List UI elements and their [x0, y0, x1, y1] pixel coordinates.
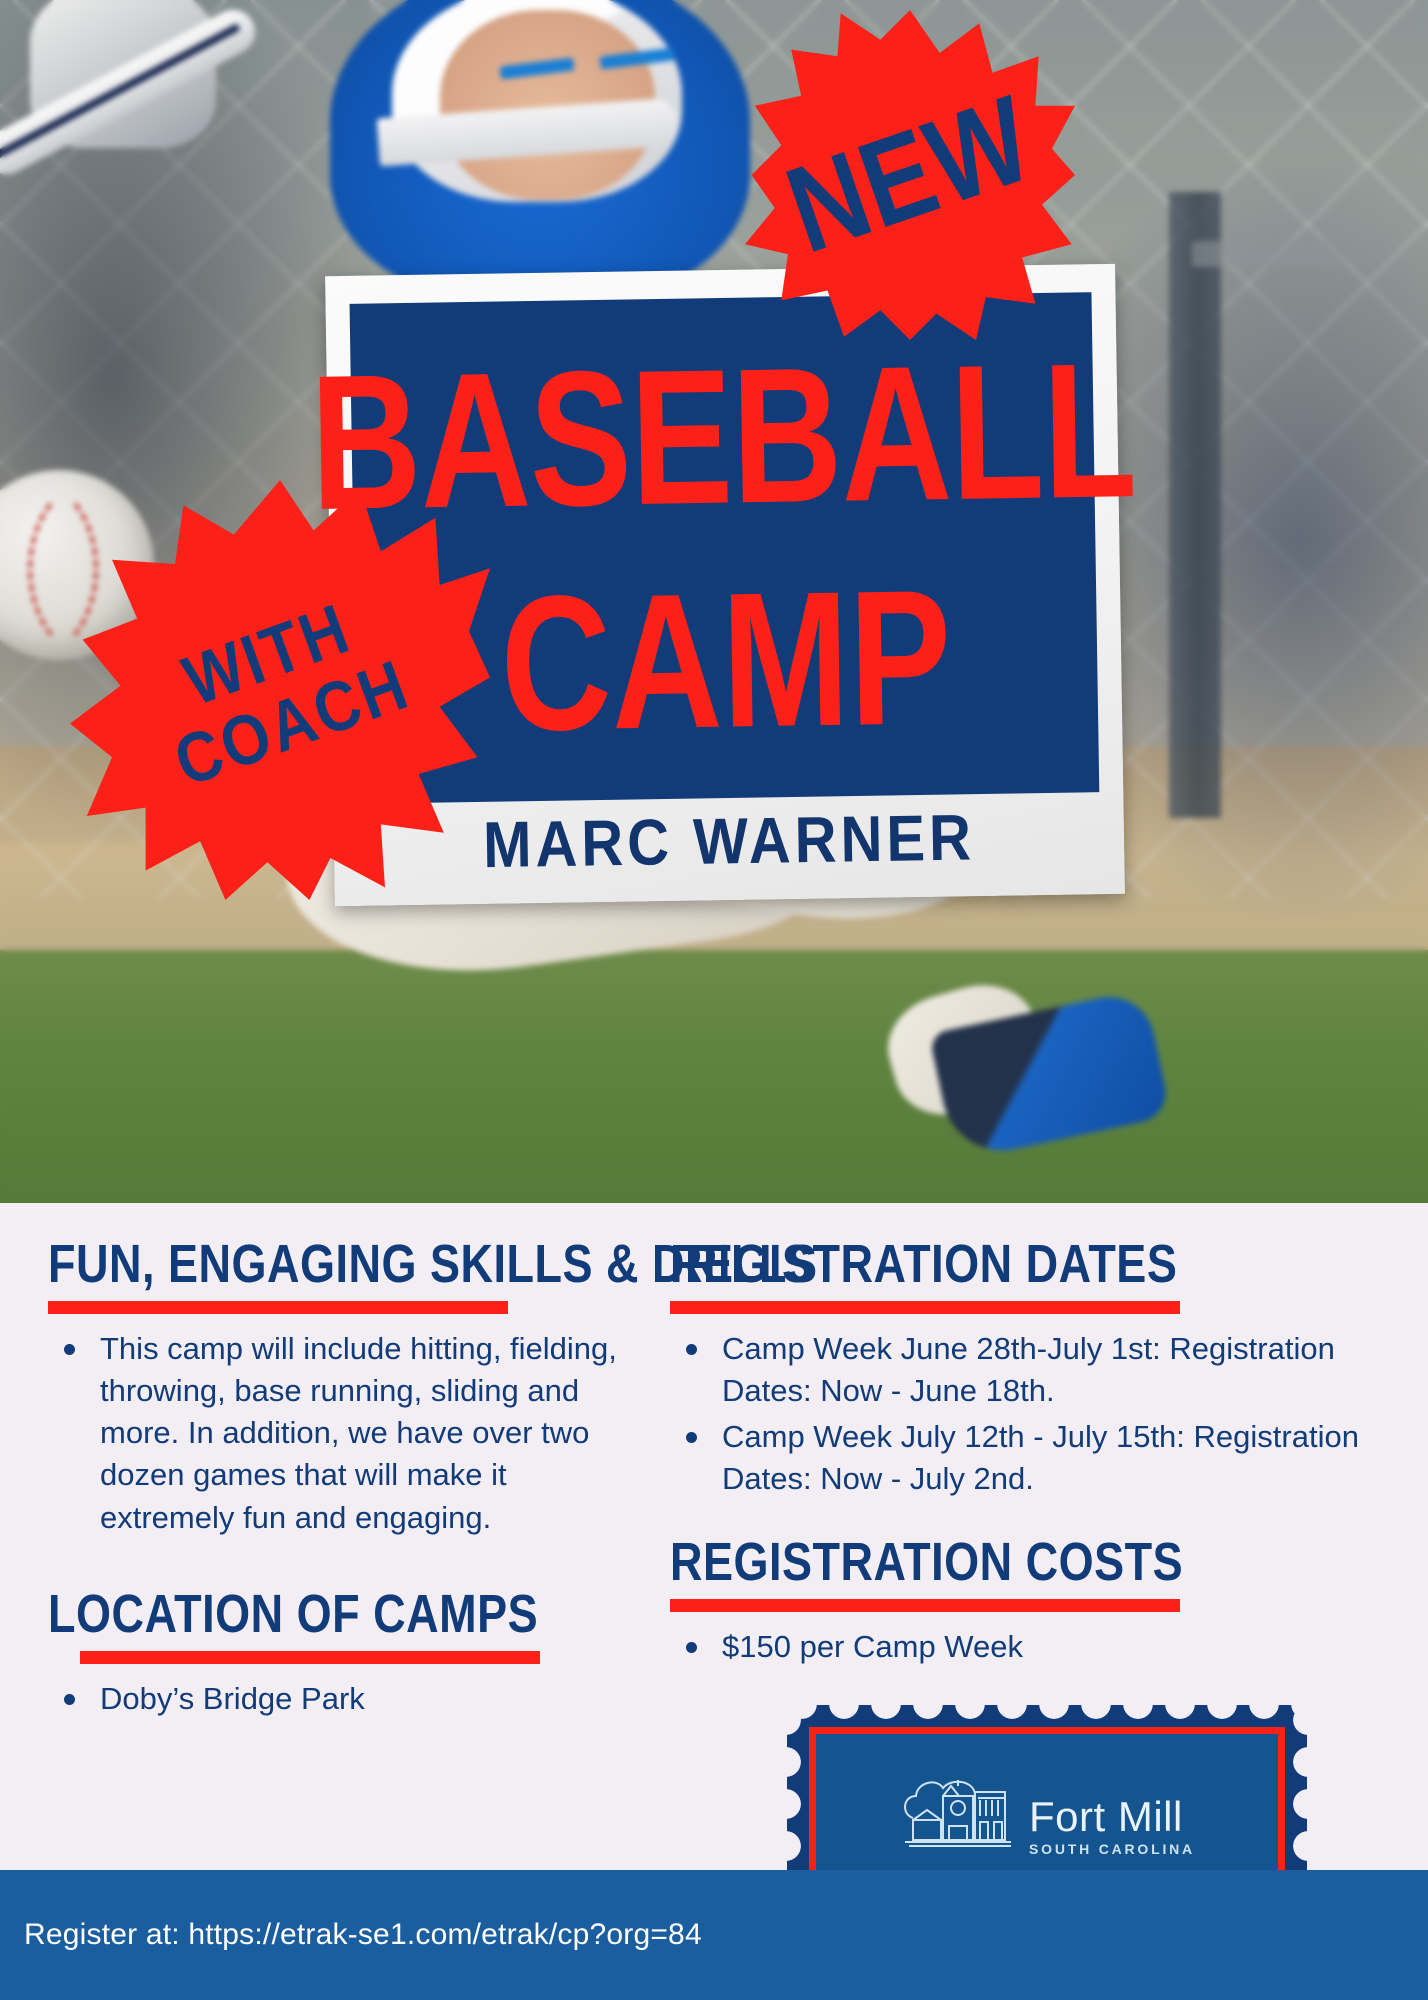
content-columns: FUN, ENGAGING SKILLS & DRILLS This camp …	[0, 1203, 1428, 1726]
title-line-camp: CAMP	[500, 564, 953, 755]
list-item: Doby’s Bridge Park	[48, 1678, 620, 1720]
title-sign-subtitle-band: MARC WARNER	[357, 792, 1100, 890]
location-heading: LOCATION OF CAMPS	[48, 1583, 620, 1645]
list-item: $150 per Camp Week	[670, 1626, 1372, 1668]
logo-city-name: Fort Mill	[1029, 1796, 1183, 1838]
registration-costs-divider	[670, 1599, 1180, 1612]
registration-dates-heading: REGISTRATION DATES	[670, 1233, 1372, 1295]
title-sign-panel: BASEBALL CAMP	[350, 292, 1100, 804]
title-line-baseball: BASEBALL	[309, 337, 1137, 534]
town-buildings-icon	[899, 1768, 1017, 1856]
with-coach-badge-label: WITH COACH	[141, 579, 419, 800]
baseball-camp-flyer: BASEBALL CAMP MARC WARNER NEW WITH COACH…	[0, 0, 1428, 2000]
skills-heading: FUN, ENGAGING SKILLS & DRILLS	[48, 1233, 620, 1295]
location-section: LOCATION OF CAMPS Doby’s Bridge Park	[48, 1583, 620, 1720]
registration-dates-divider	[670, 1301, 1180, 1314]
location-divider	[80, 1651, 540, 1664]
registration-dates-section: REGISTRATION DATES Camp Week June 28th-J…	[670, 1233, 1372, 1501]
logo-wordmark: Fort Mill SOUTH CAROLINA	[1029, 1796, 1195, 1856]
list-item: Camp Week July 12th - July 15th: Registr…	[670, 1416, 1372, 1500]
right-column: REGISTRATION DATES Camp Week June 28th-J…	[660, 1203, 1428, 1726]
skills-section: FUN, ENGAGING SKILLS & DRILLS This camp …	[48, 1233, 620, 1539]
stamp-perforation-top	[787, 1704, 1307, 1724]
registration-footer-bar: Register at: https://etrak-se1.com/etrak…	[0, 1870, 1428, 2000]
skills-divider	[48, 1301, 508, 1314]
logo-state-name: SOUTH CAROLINA	[1029, 1842, 1195, 1856]
location-bullet-list: Doby’s Bridge Park	[48, 1678, 620, 1720]
registration-costs-bullet-list: $150 per Camp Week	[670, 1626, 1372, 1668]
left-column: FUN, ENGAGING SKILLS & DRILLS This camp …	[0, 1203, 660, 1726]
list-item: This camp will include hitting, fielding…	[48, 1328, 620, 1539]
logo-top-row: Fort Mill SOUTH CAROLINA	[899, 1768, 1195, 1856]
new-badge-label: NEW	[771, 69, 1049, 282]
registration-costs-section: REGISTRATION COSTS $150 per Camp Week	[670, 1531, 1372, 1668]
registration-costs-heading: REGISTRATION COSTS	[670, 1531, 1372, 1593]
list-item: Camp Week June 28th-July 1st: Registrati…	[670, 1328, 1372, 1412]
coach-name: MARC WARNER	[483, 800, 976, 883]
register-url-text[interactable]: Register at: https://etrak-se1.com/etrak…	[0, 1918, 702, 1952]
registration-dates-bullet-list: Camp Week June 28th-July 1st: Registrati…	[670, 1328, 1372, 1501]
skills-bullet-list: This camp will include hitting, fielding…	[48, 1328, 620, 1539]
